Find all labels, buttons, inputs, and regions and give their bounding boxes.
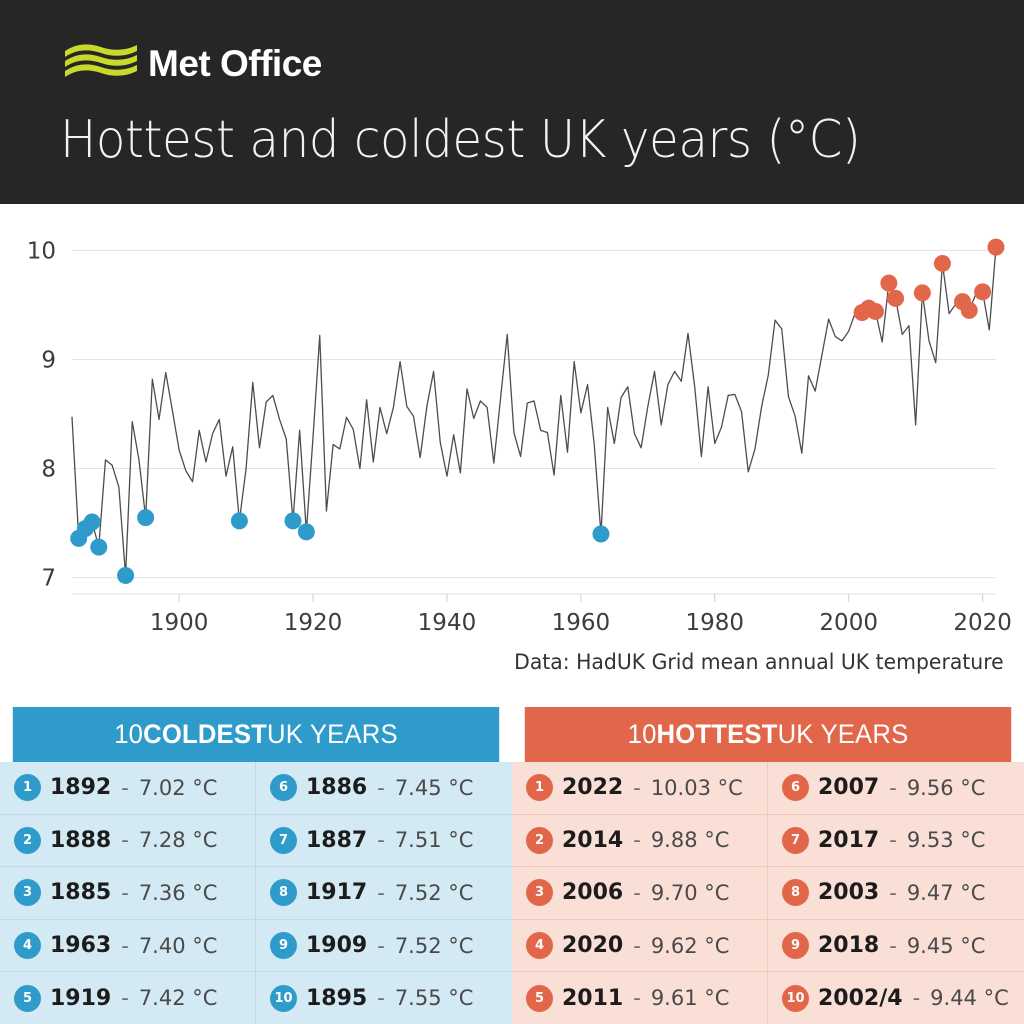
y-tick-label: 10 [27, 238, 56, 264]
rank-badge: 7 [270, 827, 297, 854]
temperature-value: 7.28 °C [139, 828, 218, 852]
year-label: 1895 [306, 986, 367, 1011]
temperature-value: 7.51 °C [395, 828, 474, 852]
hot-year-marker [867, 303, 884, 320]
hot-year-marker [961, 302, 978, 319]
coldest-title-keyword: COLDEST [143, 719, 267, 750]
separator: - [633, 986, 641, 1010]
y-axis-ticks: 78910 [27, 238, 56, 591]
year-label: 1886 [306, 775, 367, 800]
rank-badge: 8 [270, 879, 297, 906]
rank-badge: 4 [526, 932, 553, 959]
hot-year-marker [880, 275, 897, 292]
x-tick-label: 1920 [284, 610, 343, 636]
rank-badge: 2 [14, 827, 41, 854]
hot-year-marker [974, 283, 991, 300]
met-office-waves-icon [63, 42, 139, 84]
temperature-value: 10.03 °C [651, 776, 743, 800]
separator: - [633, 934, 641, 958]
separator: - [377, 881, 385, 905]
x-tick-label: 2020 [953, 610, 1012, 636]
met-office-logo: Met Office [63, 42, 322, 84]
x-tick-label: 1960 [552, 610, 611, 636]
temperature-chart: 78910 1900192019401960198020002020 Data:… [0, 204, 1024, 704]
rank-badge: 6 [270, 774, 297, 801]
rank-badge: 4 [14, 932, 41, 959]
year-label: 1887 [306, 828, 367, 853]
separator: - [121, 986, 129, 1010]
rank-badge: 8 [782, 879, 809, 906]
header-banner: Met Office Hottest and coldest UK years … [0, 0, 1024, 204]
cold-year-marker [298, 523, 315, 540]
year-label: 1917 [306, 880, 367, 905]
coldest-title-suffix: UK YEARS [267, 719, 398, 750]
separator: - [377, 986, 385, 1010]
x-tick-label: 2000 [819, 610, 878, 636]
hottest-panel-header: 10 HOTTEST UK YEARS [525, 707, 1011, 762]
table-row: 91909-7.52 °C [256, 919, 512, 972]
temperature-value: 7.40 °C [139, 934, 218, 958]
infographic-page: Met Office Hottest and coldest UK years … [0, 0, 1024, 1024]
chart-gridlines [72, 250, 996, 594]
hot-year-marker [887, 290, 904, 307]
separator: - [889, 881, 897, 905]
coldest-year-markers [70, 509, 609, 584]
y-tick-label: 7 [41, 566, 56, 592]
y-tick-label: 8 [41, 457, 56, 483]
cold-year-marker [284, 512, 301, 529]
coldest-years-panel: 10 COLDEST UK YEARS 11892-7.02 °C21888-7… [0, 707, 512, 1024]
table-row: 31885-7.36 °C [0, 866, 255, 919]
temperature-value: 9.53 °C [907, 828, 986, 852]
x-tick-label: 1980 [686, 610, 745, 636]
temperature-value: 9.47 °C [907, 881, 986, 905]
temperature-value: 9.62 °C [651, 934, 730, 958]
table-row: 21888-7.28 °C [0, 814, 255, 867]
cold-year-marker [117, 567, 134, 584]
page-title: Hottest and coldest UK years (°C) [60, 110, 860, 171]
table-row: 11892-7.02 °C [0, 762, 255, 814]
table-row: 12022-10.03 °C [512, 762, 767, 814]
year-label: 2011 [562, 986, 623, 1011]
rank-badge: 5 [14, 985, 41, 1012]
separator: - [377, 776, 385, 800]
cold-year-marker [231, 512, 248, 529]
separator: - [633, 828, 641, 852]
hot-year-marker [934, 255, 951, 272]
year-label: 2014 [562, 828, 623, 853]
coldest-title-prefix: 10 [114, 719, 143, 750]
separator: - [377, 934, 385, 958]
temperature-value: 9.88 °C [651, 828, 730, 852]
temperature-value: 9.61 °C [651, 986, 730, 1010]
table-row: 22014-9.88 °C [512, 814, 767, 867]
table-row: 101895-7.55 °C [256, 971, 512, 1024]
temperature-value: 7.02 °C [139, 776, 218, 800]
separator: - [889, 934, 897, 958]
table-row: 81917-7.52 °C [256, 866, 512, 919]
table-row: 72017-9.53 °C [768, 814, 1024, 867]
rank-badge: 9 [270, 932, 297, 959]
coldest-column-2: 61886-7.45 °C71887-7.51 °C81917-7.52 °C9… [256, 762, 512, 1024]
rank-badge: 10 [270, 985, 297, 1012]
year-label: 2003 [818, 880, 879, 905]
separator: - [889, 828, 897, 852]
table-row: 102002/4-9.44 °C [768, 971, 1024, 1024]
hottest-title-keyword: HOTTEST [657, 719, 778, 750]
rank-badge: 9 [782, 932, 809, 959]
coldest-panel-header: 10 COLDEST UK YEARS [13, 707, 499, 762]
year-label: 1888 [50, 828, 111, 853]
year-label: 2022 [562, 775, 623, 800]
coldest-column-1: 11892-7.02 °C21888-7.28 °C31885-7.36 °C4… [0, 762, 256, 1024]
rank-badge: 6 [782, 774, 809, 801]
rank-badge: 7 [782, 827, 809, 854]
year-label: 2007 [818, 775, 879, 800]
separator: - [913, 986, 921, 1010]
cold-year-marker [84, 514, 101, 531]
separator: - [121, 776, 129, 800]
table-row: 62007-9.56 °C [768, 762, 1024, 814]
rankings-tables: 10 COLDEST UK YEARS 11892-7.02 °C21888-7… [0, 707, 1024, 1024]
hottest-column-1: 12022-10.03 °C22014-9.88 °C32006-9.70 °C… [512, 762, 768, 1024]
chart-canvas: 78910 1900192019401960198020002020 [0, 204, 1024, 704]
year-label: 1909 [306, 933, 367, 958]
year-label: 1963 [50, 933, 111, 958]
hot-year-marker [988, 239, 1005, 256]
table-row: 92018-9.45 °C [768, 919, 1024, 972]
separator: - [121, 934, 129, 958]
table-row: 42020-9.62 °C [512, 919, 767, 972]
y-tick-label: 9 [41, 347, 56, 373]
rank-badge: 3 [14, 879, 41, 906]
hottest-title-suffix: UK YEARS [778, 719, 909, 750]
temperature-value: 7.45 °C [395, 776, 474, 800]
temperature-value: 9.44 °C [930, 986, 1009, 1010]
chart-source-caption: Data: HadUK Grid mean annual UK temperat… [514, 650, 1004, 674]
rank-badge: 5 [526, 985, 553, 1012]
rank-badge: 10 [782, 985, 809, 1012]
hottest-year-markers [854, 239, 1005, 321]
table-row: 71887-7.51 °C [256, 814, 512, 867]
table-row: 82003-9.47 °C [768, 866, 1024, 919]
temperature-value: 7.55 °C [395, 986, 474, 1010]
separator: - [633, 776, 641, 800]
cold-year-marker [137, 509, 154, 526]
table-row: 52011-9.61 °C [512, 971, 767, 1024]
year-label: 2006 [562, 880, 623, 905]
temperature-value: 7.52 °C [395, 934, 474, 958]
rank-badge: 1 [14, 774, 41, 801]
temperature-line-series [72, 247, 996, 575]
x-tick-label: 1940 [418, 610, 477, 636]
table-row: 61886-7.45 °C [256, 762, 512, 814]
year-label: 1919 [50, 986, 111, 1011]
temperature-value: 7.42 °C [139, 986, 218, 1010]
hot-year-marker [914, 284, 931, 301]
x-tick-label: 1900 [150, 610, 209, 636]
temperature-value: 9.56 °C [907, 776, 986, 800]
separator: - [633, 881, 641, 905]
cold-year-marker [592, 526, 609, 543]
table-row: 32006-9.70 °C [512, 866, 767, 919]
hottest-title-prefix: 10 [628, 719, 657, 750]
temperature-value: 7.52 °C [395, 881, 474, 905]
temperature-value: 7.36 °C [139, 881, 218, 905]
hottest-column-2: 62007-9.56 °C72017-9.53 °C82003-9.47 °C9… [768, 762, 1024, 1024]
separator: - [121, 828, 129, 852]
hottest-years-panel: 10 HOTTEST UK YEARS 12022-10.03 °C22014-… [512, 707, 1024, 1024]
table-row: 41963-7.40 °C [0, 919, 255, 972]
year-label: 1892 [50, 775, 111, 800]
temperature-value: 9.45 °C [907, 934, 986, 958]
year-label: 2018 [818, 933, 879, 958]
year-label: 2002/4 [818, 986, 903, 1011]
table-row: 51919-7.42 °C [0, 971, 255, 1024]
year-label: 2017 [818, 828, 879, 853]
temperature-value: 9.70 °C [651, 881, 730, 905]
year-label: 1885 [50, 880, 111, 905]
rank-badge: 2 [526, 827, 553, 854]
year-label: 2020 [562, 933, 623, 958]
rank-badge: 3 [526, 879, 553, 906]
separator: - [121, 881, 129, 905]
rank-badge: 1 [526, 774, 553, 801]
separator: - [889, 776, 897, 800]
logo-wordmark: Met Office [148, 45, 322, 82]
separator: - [377, 828, 385, 852]
cold-year-marker [90, 539, 107, 556]
x-axis-ticks: 1900192019401960198020002020 [150, 594, 1012, 636]
